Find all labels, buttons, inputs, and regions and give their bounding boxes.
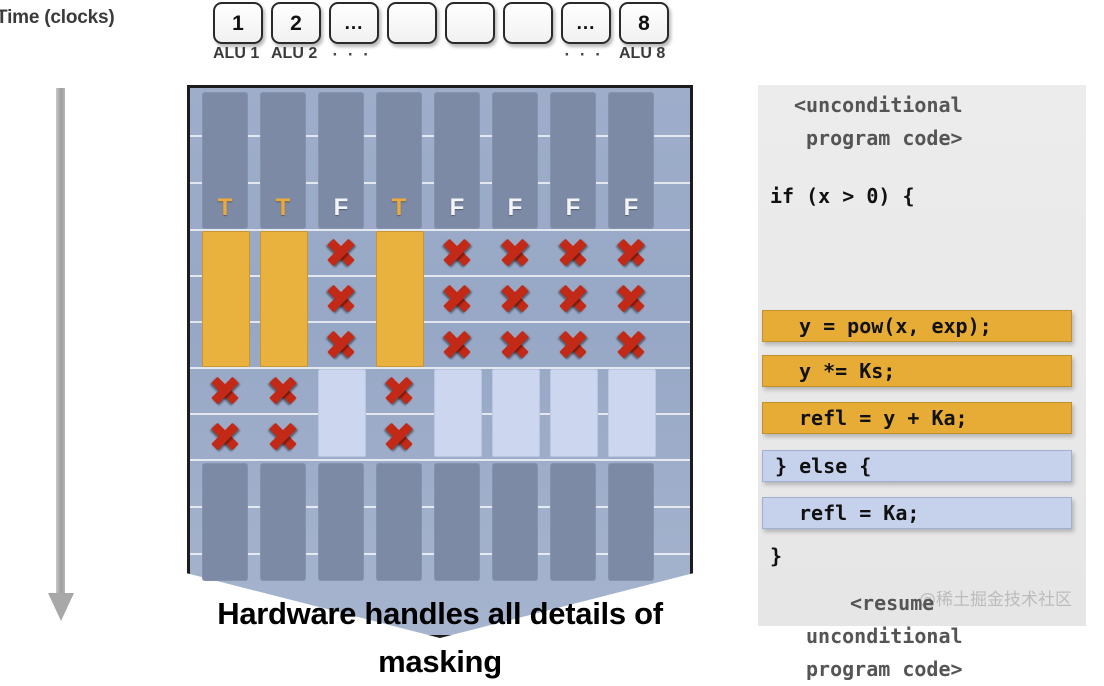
unconditional-block-bottom-lane-6 <box>492 463 538 581</box>
arrow-head <box>48 593 74 621</box>
unconditional-block-bottom-lane-5 <box>434 463 480 581</box>
condition-flag-lane-7: F <box>550 196 596 220</box>
time-axis-label: Time (clocks) <box>0 7 115 29</box>
grid-line <box>190 459 690 461</box>
unconditional-block-bottom-lane-7 <box>550 463 596 581</box>
alu-caption-3: · · · <box>329 45 375 65</box>
alu-caption-8: ALU 8 <box>619 45 665 63</box>
condition-flag-lane-3: F <box>318 196 364 220</box>
else-masked-x-icon-lane-1 <box>210 375 240 405</box>
alu-column-6 <box>503 2 551 45</box>
alu-box-8[interactable]: 8 <box>619 2 669 44</box>
alu-column-4 <box>387 2 435 45</box>
if-masked-x-icon-lane-3 <box>326 329 356 359</box>
if-active-block-lane-2 <box>260 231 308 367</box>
if-masked-x-icon-lane-7 <box>558 329 588 359</box>
alu-column-5 <box>445 2 493 45</box>
else-active-block-lane-5 <box>434 369 482 457</box>
else-active-block-lane-7 <box>550 369 598 457</box>
if-masked-x-icon-lane-8 <box>616 329 646 359</box>
else-masked-x-icon-lane-1 <box>210 421 240 451</box>
code-line-3: if (x > 0) { <box>770 186 915 206</box>
if-active-block-lane-1 <box>202 231 250 367</box>
alu-box-6[interactable] <box>503 2 553 44</box>
unconditional-block-bottom-lane-4 <box>376 463 422 581</box>
unconditional-block-bottom-lane-8 <box>608 463 654 581</box>
code-line-2: program code> <box>806 128 963 148</box>
alu-box-1[interactable]: 1 <box>213 2 263 44</box>
if-masked-x-icon-lane-3 <box>326 237 356 267</box>
alu-box-4[interactable] <box>387 2 437 44</box>
alu-caption-1: ALU 1 <box>213 45 259 63</box>
condition-flag-lane-2: T <box>260 196 306 220</box>
code-line-11: unconditional <box>806 626 963 646</box>
watermark: @稀土掘金技术社区 <box>919 585 1072 610</box>
alu-column-1: 1ALU 1 <box>213 2 261 63</box>
if-masked-x-icon-lane-6 <box>500 283 530 313</box>
if-masked-x-icon-lane-3 <box>326 283 356 313</box>
if-masked-x-icon-lane-6 <box>500 329 530 359</box>
else-masked-x-icon-lane-2 <box>268 375 298 405</box>
condition-flag-lane-6: F <box>492 196 538 220</box>
if-masked-x-icon-lane-7 <box>558 283 588 313</box>
if-masked-x-icon-lane-5 <box>442 237 472 267</box>
alu-box-3[interactable]: ... <box>329 2 379 44</box>
alu-box-2[interactable]: 2 <box>271 2 321 44</box>
arrow-shaft <box>56 88 65 598</box>
code-line-9: } <box>770 546 782 566</box>
condition-flag-lane-4: T <box>376 196 422 220</box>
code-highlight-line-5[interactable]: y *= Ks; <box>762 355 1072 387</box>
condition-flag-lane-5: F <box>434 196 480 220</box>
alu-column-8: 8ALU 8 <box>619 2 667 63</box>
code-line-12: program code> <box>806 659 963 679</box>
if-masked-x-icon-lane-8 <box>616 283 646 313</box>
code-highlight-line-4[interactable]: y = pow(x, exp); <box>762 310 1072 342</box>
else-active-block-lane-8 <box>608 369 656 457</box>
unconditional-block-bottom-lane-1 <box>202 463 248 581</box>
diagram-caption: Hardware handles all details of masking <box>187 590 693 686</box>
condition-flag-lane-8: F <box>608 196 654 220</box>
else-masked-x-icon-lane-4 <box>384 375 414 405</box>
code-line-1: <unconditional <box>794 95 963 115</box>
time-down-arrow-icon <box>48 88 78 633</box>
code-highlight-line-7[interactable]: } else { <box>762 450 1072 482</box>
else-masked-x-icon-lane-2 <box>268 421 298 451</box>
alu-column-7: ...· · · <box>561 2 609 65</box>
if-masked-x-icon-lane-5 <box>442 329 472 359</box>
code-panel: @稀土掘金技术社区 <unconditionalprogram code>if … <box>758 85 1086 626</box>
condition-flag-lane-1: T <box>202 196 248 220</box>
unconditional-block-bottom-lane-3 <box>318 463 364 581</box>
execution-grid: TTFTFFFF <box>190 88 690 581</box>
alu-caption-7: · · · <box>561 45 607 65</box>
if-active-block-lane-4 <box>376 231 424 367</box>
alu-caption-2: ALU 2 <box>271 45 317 63</box>
alu-column-2: 2ALU 2 <box>271 2 319 63</box>
code-highlight-line-6[interactable]: refl = y + Ka; <box>762 402 1072 434</box>
alu-box-5[interactable] <box>445 2 495 44</box>
code-line-10: <resume <box>850 593 934 613</box>
masking-diagram: TTFTFFFF Hardware handles all details of… <box>187 85 693 638</box>
alu-column-3: ...· · · <box>329 2 377 65</box>
else-active-block-lane-3 <box>318 369 366 457</box>
alu-header-row: 1ALU 12ALU 2...· · ·...· · ·8ALU 8 <box>213 2 693 62</box>
unconditional-block-bottom-lane-2 <box>260 463 306 581</box>
if-masked-x-icon-lane-6 <box>500 237 530 267</box>
alu-box-7[interactable]: ... <box>561 2 611 44</box>
if-masked-x-icon-lane-7 <box>558 237 588 267</box>
if-masked-x-icon-lane-5 <box>442 283 472 313</box>
if-masked-x-icon-lane-8 <box>616 237 646 267</box>
else-masked-x-icon-lane-4 <box>384 421 414 451</box>
else-active-block-lane-6 <box>492 369 540 457</box>
code-highlight-line-8[interactable]: refl = Ka; <box>762 497 1072 529</box>
